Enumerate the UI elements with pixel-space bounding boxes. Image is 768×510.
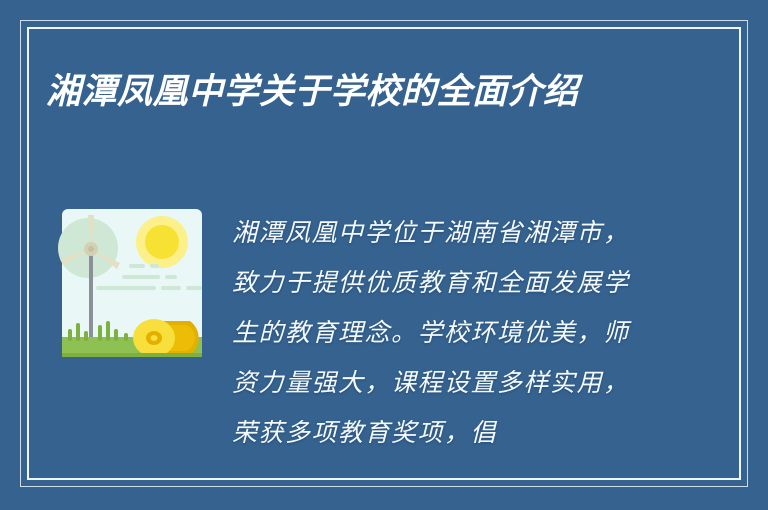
article-card: 湘潭凤凰中学关于学校的全面介绍 [0,0,768,510]
hay-bale-shape [133,319,199,357]
article-body: 湘潭凤凰中学位于湖南省湘潭市，致力于提供优质教育和全面发展学生的教育理念。学校环… [232,208,650,458]
wind-turbine-farm-illustration [58,205,210,363]
sun-icon [136,216,188,268]
page-title: 湘潭凤凰中学关于学校的全面介绍 [46,64,606,119]
ground-line-shape [62,353,202,357]
